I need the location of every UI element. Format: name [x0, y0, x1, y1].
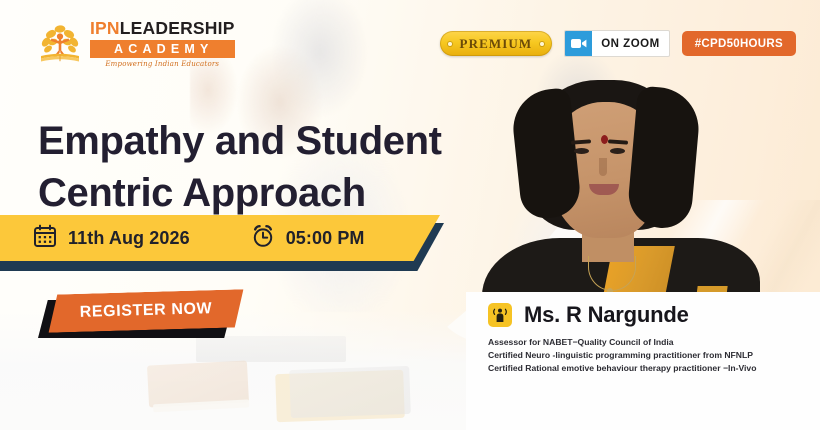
background-notebook-b: [289, 366, 411, 418]
background-notebook-a: [147, 360, 249, 407]
schedule-bar: 11th Aug 2026 05:00 PM: [0, 215, 452, 271]
speaker-name-row: Ms. R Nargunde: [488, 302, 689, 328]
page-title-line1: Empathy and Student: [38, 115, 518, 167]
speaker-portrait: [496, 80, 746, 298]
zoom-badge-label: ON ZOOM: [592, 31, 668, 56]
schedule-date-text: 11th Aug 2026: [68, 228, 190, 249]
tree-book-logo-icon: [38, 21, 82, 67]
speaker-credentials: Assessor for NABET−Quality Council of In…: [488, 336, 806, 376]
speaker-hair-right: [626, 85, 702, 230]
cpd-badge-label: #CPD50HOURS: [695, 38, 783, 50]
speaker-name: Ms. R Nargunde: [524, 302, 689, 328]
speaker-credential-item: Assessor for NABET−Quality Council of In…: [488, 336, 806, 349]
schedule-time: 05:00 PM: [251, 224, 365, 253]
brand-logo-academy: ACADEMY: [90, 40, 235, 58]
speaker-eye-left: [574, 148, 589, 154]
premium-dot-left-icon: [448, 42, 452, 46]
register-now-area: REGISTER NOW: [38, 292, 248, 340]
zoom-badge[interactable]: ON ZOOM: [564, 30, 669, 57]
webinar-poster: IPNLEADERSHIP ACADEMY Empowering Indian …: [0, 0, 820, 430]
schedule-date: 11th Aug 2026: [33, 224, 190, 253]
page-title: Empathy and Student Centric Approach: [38, 115, 518, 219]
cpd-badge[interactable]: #CPD50HOURS: [682, 31, 796, 56]
speaker-credential-item: Certified Rational emotive behaviour the…: [488, 362, 806, 375]
presenter-podium-icon: [488, 303, 512, 327]
schedule-time-text: 05:00 PM: [286, 228, 365, 249]
brand-tagline: Empowering Indian Educators: [90, 61, 235, 68]
badge-group: PREMIUM ON ZOOM #CPD50HOURS: [440, 30, 796, 57]
speaker-nose: [599, 158, 607, 176]
background-folder: [275, 370, 405, 422]
brand-logo-leadership: LEADERSHIP: [120, 18, 235, 38]
premium-badge[interactable]: PREMIUM: [440, 31, 553, 56]
video-camera-icon: [565, 31, 592, 56]
calendar-icon: [33, 224, 57, 253]
speaker-bindi: [601, 135, 608, 144]
register-now-button[interactable]: REGISTER NOW: [48, 289, 245, 332]
schedule-bar-body: 11th Aug 2026 05:00 PM: [0, 215, 440, 261]
alarm-clock-icon: [251, 224, 275, 253]
brand-logo[interactable]: IPNLEADERSHIP ACADEMY Empowering Indian …: [38, 20, 235, 68]
speaker-info-panel: Ms. R Nargunde Assessor for NABET−Qualit…: [466, 292, 820, 430]
speaker-credential-item: Certified Neuro -linguistic programming …: [488, 349, 806, 362]
register-now-label: REGISTER NOW: [79, 300, 212, 322]
brand-logo-line1: IPNLEADERSHIP: [90, 20, 235, 38]
page-title-line2: Centric Approach: [38, 167, 518, 219]
speaker-eye-right: [610, 148, 625, 154]
premium-dot-right-icon: [540, 42, 544, 46]
premium-badge-label: PREMIUM: [460, 36, 533, 52]
brand-logo-text: IPNLEADERSHIP ACADEMY Empowering Indian …: [90, 20, 235, 68]
brand-logo-ipn: IPN: [90, 18, 120, 38]
